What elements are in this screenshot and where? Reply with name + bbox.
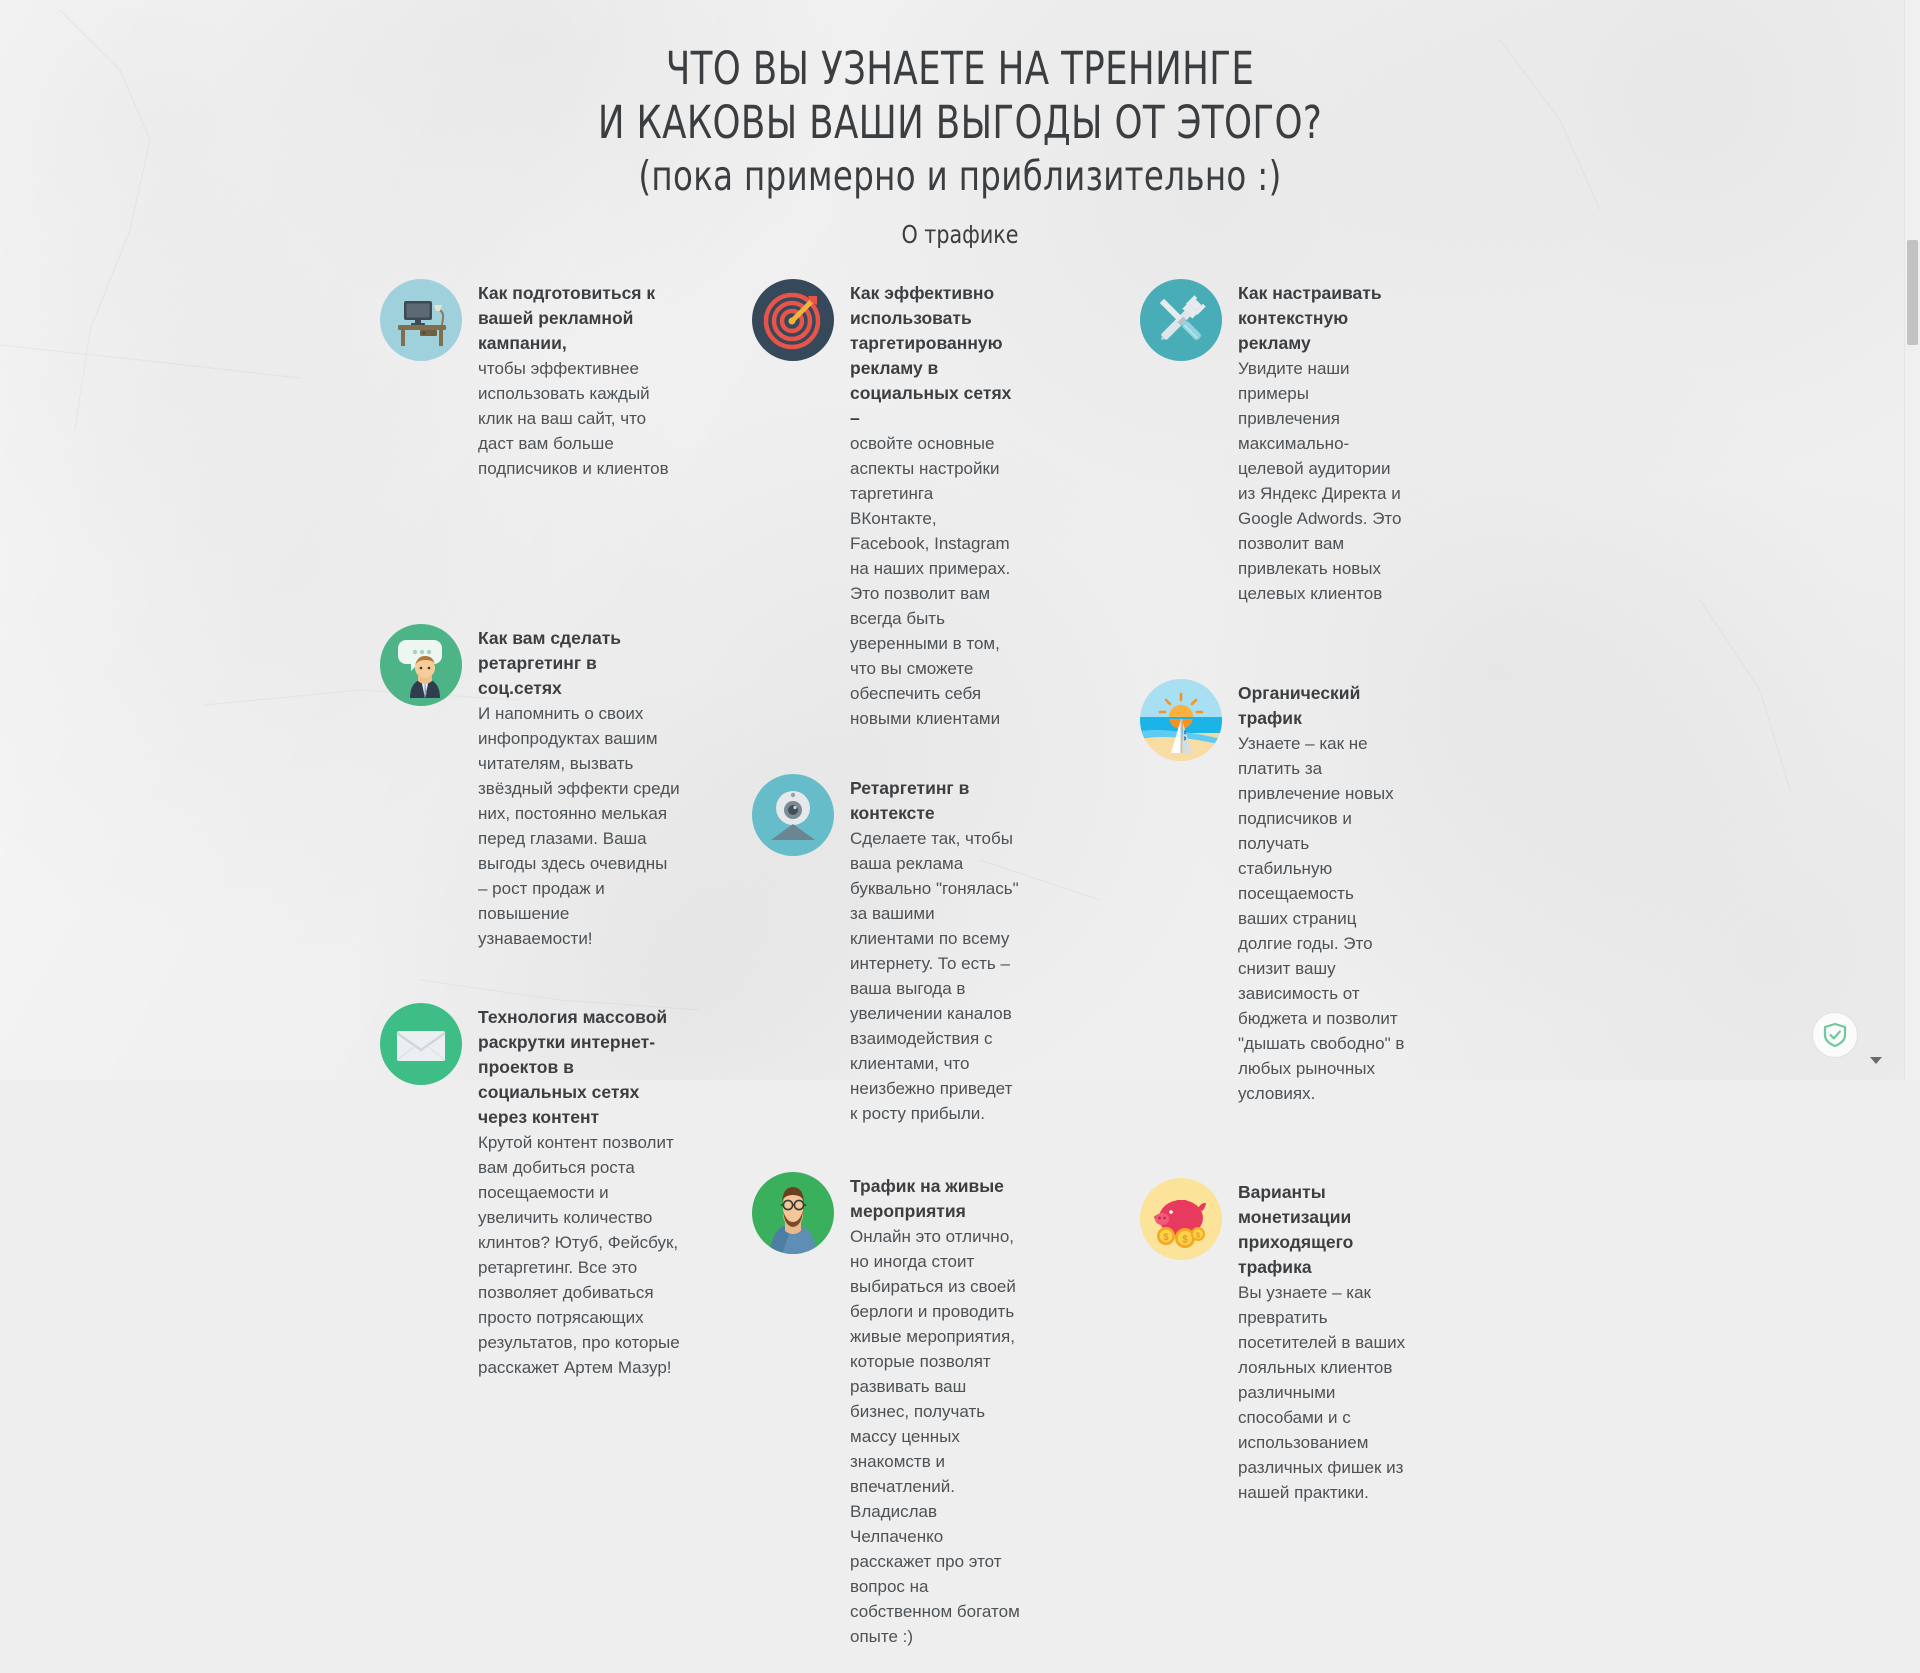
shield-check-icon[interactable] [1812, 1012, 1858, 1058]
benefits-column-2: Как эффективно использовать таргетирован… [752, 279, 1020, 1673]
benefit-card-title: Как эффективно использовать таргетирован… [850, 281, 1020, 431]
benefit-card: Как настраивать контекстную рекламу Увид… [1140, 279, 1408, 606]
benefit-card-text: Узнаете – как не платить за привлечение … [1238, 731, 1408, 1106]
benefit-card: Ретаргетинг в контексте Сделаете так, чт… [752, 774, 1020, 1126]
person-speech-bubble-icon [380, 624, 462, 706]
benefit-card-title: Как вам сделать ретаргетинг в соц.сетях [478, 626, 680, 701]
benefit-card: $ $ $ Варианты монетизации приходящего т… [1140, 1178, 1408, 1505]
svg-text:$: $ [1196, 1233, 1200, 1240]
benefit-card-text: Онлайн это отлично, но иногда стоит выби… [850, 1224, 1020, 1649]
bearded-man-icon [752, 1172, 834, 1254]
benefit-card-title: Варианты монетизации приходящего трафика [1238, 1180, 1408, 1280]
benefit-card: Как вам сделать ретаргетинг в соц.сетях … [380, 624, 680, 951]
chevron-down-icon[interactable] [1870, 1057, 1882, 1064]
benefit-card-title: Технология массовой раскрутки интернет-п… [478, 1005, 680, 1130]
benefit-card: Как подготовиться к вашей рекламной камп… [380, 279, 680, 481]
benefit-card: Органический трафик Узнаете – как не пла… [1140, 679, 1408, 1106]
benefit-card-title: Органический трафик [1238, 681, 1408, 731]
heading-line-3: (пока примерно и приблизительно :) [115, 150, 1805, 202]
piggy-bank-coins-icon: $ $ $ [1140, 1178, 1222, 1260]
page-scrollbar-thumb[interactable] [1907, 240, 1918, 345]
target-dartboard-icon [752, 279, 834, 361]
benefit-card-text: И напомнить о своих инфопродуктах вашим … [478, 701, 680, 951]
benefit-card: Трафик на живые мероприятия Онлайн это о… [752, 1172, 1020, 1649]
envelope-icon [380, 1003, 462, 1085]
benefit-card-title: Ретаргетинг в контексте [850, 776, 1020, 826]
desk-computer-icon [380, 279, 462, 361]
beach-sunset-sailboat-icon [1140, 679, 1222, 761]
benefit-card: Как эффективно использовать таргетирован… [752, 279, 1020, 731]
page-scrollbar-track[interactable] [1904, 0, 1920, 1080]
benefit-card-title: Как подготовиться к вашей рекламной камп… [478, 281, 680, 356]
svg-text:$: $ [1163, 1232, 1168, 1242]
benefits-column-3: Как настраивать контекстную рекламу Увид… [1140, 279, 1408, 1673]
benefit-card-text: Сделаете так, чтобы ваша реклама букваль… [850, 826, 1020, 1126]
benefit-card-text: освойте основные аспекты настройки тарге… [850, 431, 1020, 731]
wrench-screwdriver-icon [1140, 279, 1222, 361]
page-heading: ЧТО ВЫ УЗНАЕТЕ НА ТРЕНИНГЕ И КАКОВЫ ВАШИ… [0, 0, 1920, 249]
benefit-card: Технология массовой раскрутки интернет-п… [380, 1003, 680, 1380]
benefit-card-title: Как настраивать контекстную рекламу [1238, 281, 1408, 356]
webcam-icon [752, 774, 834, 856]
svg-text:$: $ [1182, 1235, 1188, 1246]
heading-line-1: ЧТО ВЫ УЗНАЕТЕ НА ТРЕНИНГЕ [115, 42, 1805, 96]
benefit-card-text: чтобы эффективнее использовать каждый кл… [478, 356, 680, 481]
benefits-grid: Как подготовиться к вашей рекламной камп… [380, 279, 1540, 1673]
section-subheading: О трафике [77, 220, 1843, 249]
benefits-column-1: Как подготовиться к вашей рекламной камп… [380, 279, 680, 1673]
benefit-card-text: Увидите наши примеры привлечения максима… [1238, 356, 1408, 606]
benefit-card-text: Крутой контент позволит вам добиться рос… [478, 1130, 680, 1380]
heading-line-2: И КАКОВЫ ВАШИ ВЫГОДЫ ОТ ЭТОГО? [115, 96, 1805, 150]
benefit-card-text: Вы узнаете – как превратить посетителей … [1238, 1280, 1408, 1505]
benefit-card-title: Трафик на живые мероприятия [850, 1174, 1020, 1224]
